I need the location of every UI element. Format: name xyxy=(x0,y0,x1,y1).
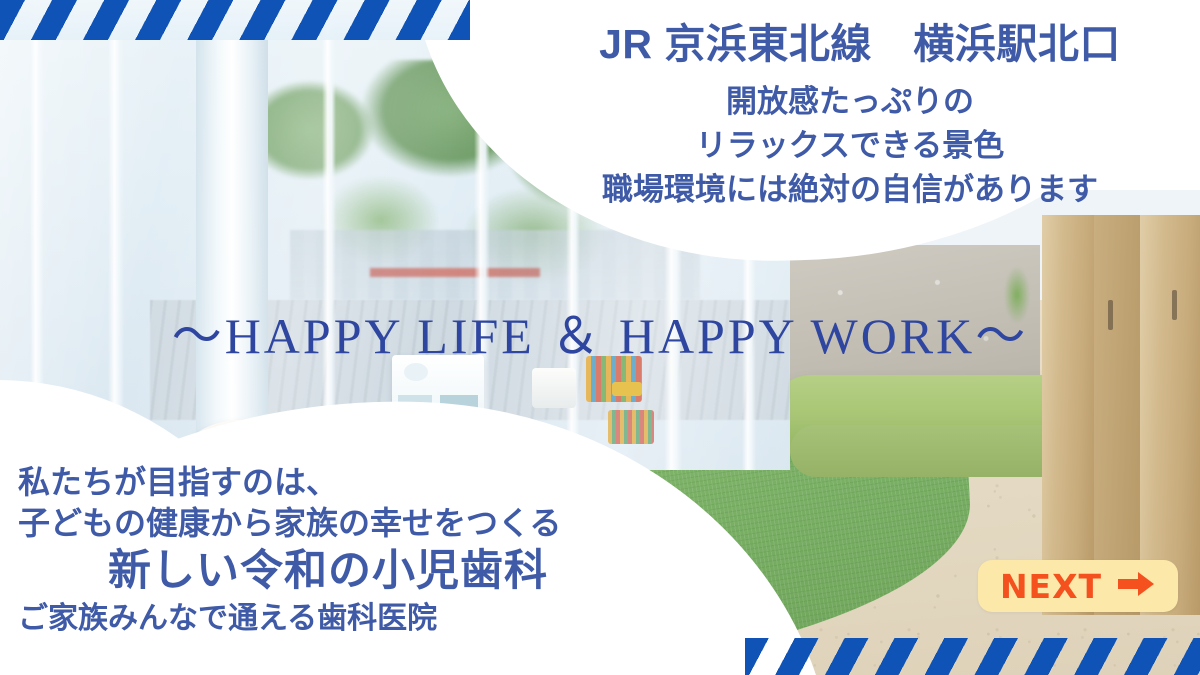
diagonal-stripe-band-top xyxy=(0,0,470,40)
bottom-copy-line-2: 子どもの健康から家族の幸せをつくる xyxy=(0,503,700,544)
diagonal-stripe-band-bottom xyxy=(745,638,1200,675)
bottom-left-copy: 私たちが目指すのは、 子どもの健康から家族の幸せをつくる 新しい令和の小児歯科 … xyxy=(0,462,700,638)
header-subtitle-line-3: 職場環境には絶対の自信があります xyxy=(500,168,1200,212)
next-button-label: NEXT xyxy=(1000,567,1102,606)
header-subtitle-line-1: 開放感たっぷりの xyxy=(500,80,1200,124)
outdoor-train xyxy=(370,268,540,277)
toy-blocks xyxy=(608,410,654,444)
round-column-1 xyxy=(196,30,268,450)
next-button[interactable]: NEXT xyxy=(978,560,1178,612)
header-subtitle-group: 開放感たっぷりの リラックスできる景色 職場環境には絶対の自信があります xyxy=(500,80,1200,212)
toy-car xyxy=(612,382,642,396)
header-subtitle-line-2: リラックスできる景色 xyxy=(500,124,1200,168)
wood-column-1 xyxy=(1042,215,1094,615)
page-title: JR 京浜東北線 横浜駅北口 xyxy=(520,22,1200,67)
bottom-copy-headline: 新しい令和の小児歯科 xyxy=(0,544,700,600)
center-tagline: 〜HAPPY LIFE ＆ HAPPY WORK〜 xyxy=(0,296,1200,368)
arrow-right-icon xyxy=(1116,569,1156,604)
green-bench-lower xyxy=(790,425,1060,477)
bottom-copy-line-1: 私たちが目指すのは、 xyxy=(0,462,700,503)
slide-root: JR 京浜東北線 横浜駅北口 開放感たっぷりの リラックスできる景色 職場環境に… xyxy=(0,0,1200,675)
outdoor-buildings xyxy=(290,230,700,300)
bottom-copy-line-4: ご家族みんなで通える歯科医院 xyxy=(0,600,700,638)
window-mullion-2 xyxy=(108,0,124,470)
wood-column-3 xyxy=(1140,215,1200,615)
wood-column-2 xyxy=(1094,215,1140,615)
toy-box xyxy=(532,368,576,408)
window-mullion-3 xyxy=(322,0,336,470)
